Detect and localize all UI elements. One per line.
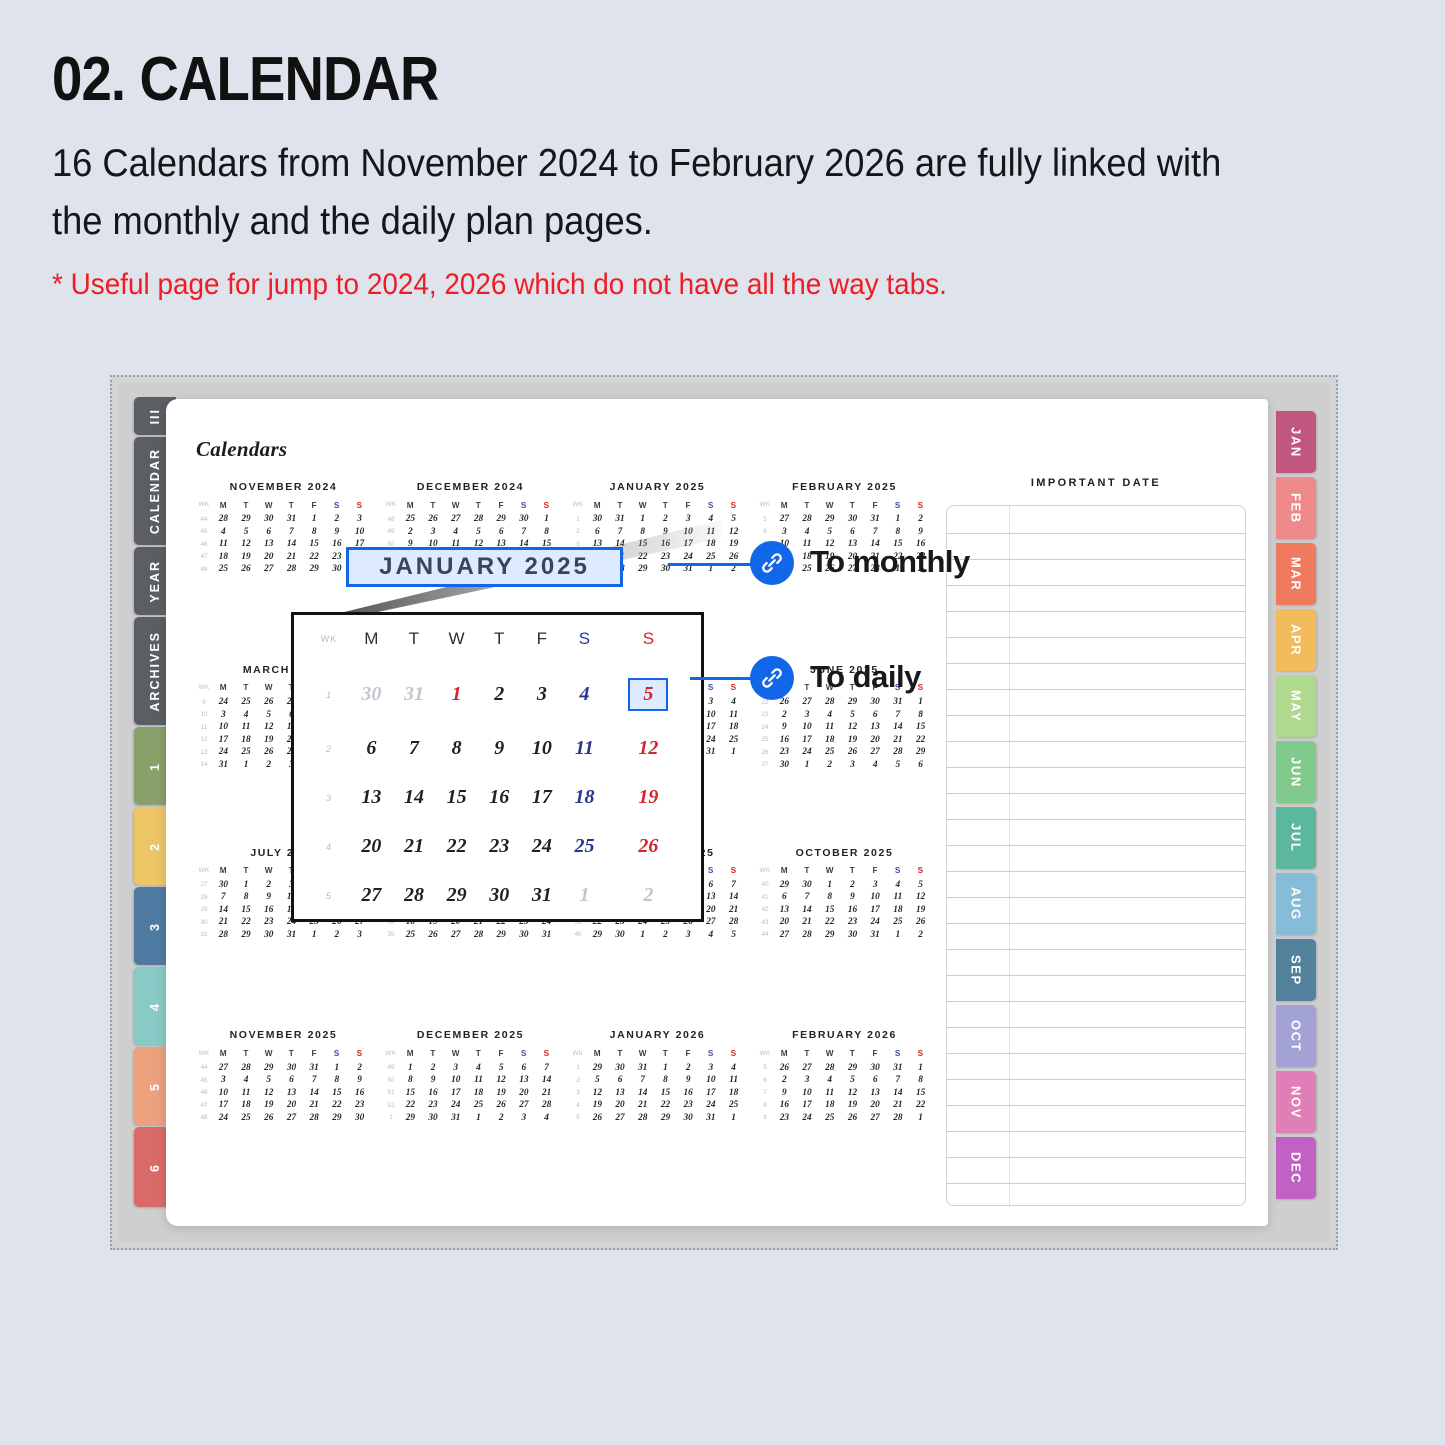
day-cell[interactable]: 18 <box>722 722 745 734</box>
day-cell[interactable]: 17 <box>796 734 819 746</box>
day-cell[interactable]: 28 <box>796 514 819 526</box>
day-cell[interactable]: 29 <box>235 929 258 941</box>
day-cell[interactable]: 6 <box>280 1075 303 1087</box>
day-cell[interactable]: 28 <box>467 514 490 526</box>
day-cell[interactable]: 2 <box>909 929 932 941</box>
day-cell[interactable]: 1 <box>722 746 745 758</box>
day-cell[interactable]: 1 <box>326 1062 349 1074</box>
day-cell[interactable]: 6 <box>350 724 393 773</box>
day-cell[interactable]: 1 <box>887 514 910 526</box>
day-cell[interactable]: 15 <box>303 539 326 551</box>
day-cell[interactable]: 21 <box>631 1100 654 1112</box>
day-cell[interactable]: 13 <box>513 1075 536 1087</box>
day-cell[interactable]: 2 <box>348 1062 371 1074</box>
day-cell[interactable]: 26 <box>841 1112 864 1124</box>
day-cell[interactable]: 31 <box>535 929 558 941</box>
day-cell[interactable]: 17 <box>700 1087 723 1099</box>
day-cell[interactable]: 13 <box>864 722 887 734</box>
day-cell[interactable]: 16 <box>478 773 521 822</box>
day-cell[interactable]: 12 <box>841 1087 864 1099</box>
day-cell[interactable]: 26 <box>422 929 445 941</box>
day-cell[interactable]: 23 <box>257 917 280 929</box>
day-cell[interactable]: 15 <box>435 773 478 822</box>
day-cell[interactable]: 2 <box>909 514 932 526</box>
day-cell[interactable]: 27 <box>864 1112 887 1124</box>
day-cell[interactable]: 20 <box>773 917 796 929</box>
day-cell[interactable]: 22 <box>631 551 654 563</box>
day-cell[interactable]: 11 <box>235 1087 258 1099</box>
day-cell[interactable]: 17 <box>212 1100 235 1112</box>
day-cell[interactable]: 8 <box>303 526 326 538</box>
day-cell[interactable]: 18 <box>818 734 841 746</box>
day-cell[interactable]: 21 <box>796 917 819 929</box>
day-cell[interactable]: 31 <box>444 1112 467 1124</box>
day-cell[interactable]: 7 <box>280 526 303 538</box>
day-cell[interactable]: 16 <box>654 539 677 551</box>
day-cell[interactable]: 25 <box>887 917 910 929</box>
day-cell[interactable]: 28 <box>235 1062 258 1074</box>
day-cell[interactable]: 10 <box>348 526 371 538</box>
day-cell[interactable]: 30 <box>864 1062 887 1074</box>
day-cell[interactable]: 29 <box>435 871 478 920</box>
day-cell[interactable]: 31 <box>631 1062 654 1074</box>
selected-day-link[interactable]: 5 <box>628 678 668 711</box>
day-cell[interactable]: 19 <box>841 1100 864 1112</box>
day-cell[interactable]: 3 <box>212 1075 235 1087</box>
day-cell[interactable]: 26 <box>773 1062 796 1074</box>
day-cell[interactable]: 17 <box>796 1100 819 1112</box>
day-cell[interactable]: 13 <box>350 773 393 822</box>
day-cell[interactable]: 17 <box>864 904 887 916</box>
day-cell[interactable]: 15 <box>654 1087 677 1099</box>
day-cell[interactable]: 12 <box>606 724 691 773</box>
mini-calendar[interactable]: JANUARY 2026WKMTWTFSS1293031123425678910… <box>564 1025 751 1208</box>
day-cell[interactable]: 30 <box>280 1062 303 1074</box>
day-cell[interactable]: 27 <box>444 929 467 941</box>
day-cell[interactable]: 11 <box>467 1075 490 1087</box>
day-cell[interactable]: 29 <box>841 697 864 709</box>
day-cell[interactable]: 31 <box>864 929 887 941</box>
day-cell[interactable]: 2 <box>677 1062 700 1074</box>
day-cell[interactable]: 18 <box>887 904 910 916</box>
day-cell[interactable]: 28 <box>887 746 910 758</box>
day-cell[interactable]: 1 <box>303 514 326 526</box>
day-cell[interactable]: 29 <box>841 1062 864 1074</box>
day-cell[interactable]: 3 <box>796 709 819 721</box>
day-cell[interactable]: 30 <box>478 871 521 920</box>
day-cell[interactable]: 27 <box>212 1062 235 1074</box>
mini-calendar[interactable]: NOVEMBER 2025WKMTWTFSS442728293031124534… <box>190 1025 377 1208</box>
day-cell[interactable]: 31 <box>280 929 303 941</box>
mini-calendar-title[interactable]: JANUARY 2025 <box>570 481 745 493</box>
day-cell[interactable]: 16 <box>257 904 280 916</box>
month-tab-jan[interactable]: JAN <box>1276 411 1316 473</box>
day-cell[interactable]: 9 <box>841 892 864 904</box>
day-cell[interactable]: 21 <box>393 822 436 871</box>
day-cell[interactable]: 22 <box>654 1100 677 1112</box>
day-cell[interactable]: 2 <box>257 759 280 771</box>
day-cell[interactable]: 26 <box>586 1112 609 1124</box>
day-cell[interactable]: 1 <box>631 514 654 526</box>
day-cell[interactable]: 28 <box>796 929 819 941</box>
day-cell[interactable]: 5 <box>841 709 864 721</box>
day-cell[interactable]: 11 <box>887 892 910 904</box>
day-cell[interactable]: 9 <box>422 1075 445 1087</box>
day-cell[interactable]: 2 <box>841 879 864 891</box>
important-date-box[interactable] <box>946 505 1246 1206</box>
day-cell[interactable]: 9 <box>773 1087 796 1099</box>
day-cell[interactable]: 16 <box>677 1087 700 1099</box>
day-cell[interactable]: 21 <box>722 904 745 916</box>
day-cell[interactable]: 13 <box>257 539 280 551</box>
day-cell[interactable]: 24 <box>796 746 819 758</box>
day-cell[interactable]: 22 <box>909 1100 932 1112</box>
day-cell[interactable]: 15 <box>326 1087 349 1099</box>
day-cell[interactable]: 7 <box>393 724 436 773</box>
day-cell[interactable]: 29 <box>654 1112 677 1124</box>
day-cell[interactable]: 23 <box>841 917 864 929</box>
day-cell[interactable]: 28 <box>467 929 490 941</box>
day-cell[interactable]: 15 <box>818 904 841 916</box>
day-cell[interactable]: 28 <box>212 514 235 526</box>
month-tab-nov[interactable]: NOV <box>1276 1071 1316 1133</box>
day-cell[interactable]: 28 <box>280 564 303 576</box>
day-cell[interactable]: 20 <box>513 1087 536 1099</box>
day-cell[interactable]: 29 <box>326 1112 349 1124</box>
day-cell[interactable]: 8 <box>326 1075 349 1087</box>
day-cell[interactable]: 1 <box>467 1112 490 1124</box>
day-cell[interactable]: 6 <box>490 526 513 538</box>
day-cell[interactable]: 29 <box>490 929 513 941</box>
day-cell[interactable]: 6 <box>909 759 932 771</box>
day-cell[interactable]: 2 <box>654 514 677 526</box>
day-cell[interactable]: 2 <box>326 514 349 526</box>
day-cell[interactable]: 9 <box>773 722 796 734</box>
day-cell[interactable]: 5 <box>606 665 691 724</box>
day-cell[interactable]: 30 <box>864 697 887 709</box>
day-cell[interactable]: 19 <box>606 773 691 822</box>
day-cell[interactable]: 17 <box>521 773 564 822</box>
day-cell[interactable]: 30 <box>212 879 235 891</box>
day-cell[interactable]: 1 <box>563 871 606 920</box>
day-cell[interactable]: 9 <box>326 526 349 538</box>
day-cell[interactable]: 31 <box>303 1062 326 1074</box>
day-cell[interactable]: 27 <box>609 1112 632 1124</box>
day-cell[interactable]: 28 <box>212 929 235 941</box>
day-cell[interactable]: 7 <box>887 709 910 721</box>
day-cell[interactable]: 8 <box>535 526 558 538</box>
day-cell[interactable]: 28 <box>887 1112 910 1124</box>
day-cell[interactable]: 14 <box>303 1087 326 1099</box>
day-cell[interactable]: 11 <box>818 722 841 734</box>
day-cell[interactable]: 29 <box>631 564 654 576</box>
day-cell[interactable]: 4 <box>444 526 467 538</box>
day-cell[interactable]: 26 <box>909 917 932 929</box>
month-tab-feb[interactable]: FEB <box>1276 477 1316 539</box>
day-cell[interactable]: 22 <box>435 822 478 871</box>
day-cell[interactable]: 4 <box>235 1075 258 1087</box>
day-cell[interactable]: 1 <box>399 1062 422 1074</box>
day-cell[interactable]: 29 <box>399 1112 422 1124</box>
day-cell[interactable]: 28 <box>722 917 745 929</box>
day-cell[interactable]: 4 <box>700 929 723 941</box>
day-cell[interactable]: 5 <box>818 526 841 538</box>
day-cell[interactable]: 28 <box>818 697 841 709</box>
day-cell[interactable]: 6 <box>609 1075 632 1087</box>
day-cell[interactable]: 21 <box>280 551 303 563</box>
day-cell[interactable]: 7 <box>631 1075 654 1087</box>
day-cell[interactable]: 1 <box>887 929 910 941</box>
day-cell[interactable]: 30 <box>796 879 819 891</box>
day-cell[interactable]: 5 <box>722 929 745 941</box>
day-cell[interactable]: 27 <box>257 564 280 576</box>
day-cell[interactable]: 19 <box>235 551 258 563</box>
day-cell[interactable]: 1 <box>909 697 932 709</box>
day-cell[interactable]: 7 <box>796 892 819 904</box>
day-cell[interactable]: 2 <box>818 759 841 771</box>
day-cell[interactable]: 22 <box>399 1100 422 1112</box>
day-cell[interactable]: 2 <box>606 871 691 920</box>
day-cell[interactable]: 7 <box>887 1075 910 1087</box>
mini-calendar-title[interactable]: FEBRUARY 2026 <box>757 1029 932 1041</box>
day-cell[interactable]: 9 <box>909 526 932 538</box>
day-cell[interactable]: 27 <box>444 514 467 526</box>
day-cell[interactable]: 28 <box>631 1112 654 1124</box>
day-cell[interactable]: 10 <box>444 1075 467 1087</box>
day-cell[interactable]: 13 <box>609 1087 632 1099</box>
month-tab-may[interactable]: MAY <box>1276 675 1316 737</box>
mini-calendar[interactable]: FEBRUARY 2026WKMTWTFSS526272829303116234… <box>751 1025 938 1208</box>
day-cell[interactable]: 9 <box>478 724 521 773</box>
day-cell[interactable]: 2 <box>490 1112 513 1124</box>
day-cell[interactable]: 27 <box>773 929 796 941</box>
day-cell[interactable]: 27 <box>513 1100 536 1112</box>
day-cell[interactable]: 14 <box>280 539 303 551</box>
day-cell[interactable]: 14 <box>212 904 235 916</box>
day-cell[interactable]: 25 <box>722 1100 745 1112</box>
day-cell[interactable]: 31 <box>393 665 436 724</box>
day-cell[interactable]: 31 <box>521 871 564 920</box>
month-tab-sep[interactable]: SEP <box>1276 939 1316 1001</box>
day-cell[interactable]: 29 <box>818 929 841 941</box>
day-cell[interactable]: 24 <box>521 822 564 871</box>
day-cell[interactable]: 6 <box>586 526 609 538</box>
day-cell[interactable]: 11 <box>818 1087 841 1099</box>
day-cell[interactable]: 1 <box>818 879 841 891</box>
day-cell[interactable]: 1 <box>796 759 819 771</box>
day-cell[interactable]: 4 <box>818 1075 841 1087</box>
day-cell[interactable]: 5 <box>887 759 910 771</box>
day-cell[interactable]: 1 <box>631 929 654 941</box>
day-cell[interactable]: 8 <box>909 1075 932 1087</box>
day-cell[interactable]: 8 <box>399 1075 422 1087</box>
day-cell[interactable]: 19 <box>490 1087 513 1099</box>
day-cell[interactable]: 11 <box>235 722 258 734</box>
day-cell[interactable]: 4 <box>563 665 606 724</box>
day-cell[interactable]: 1 <box>535 514 558 526</box>
day-cell[interactable]: 2 <box>773 1075 796 1087</box>
day-cell[interactable]: 30 <box>609 929 632 941</box>
day-cell[interactable]: 22 <box>326 1100 349 1112</box>
day-cell[interactable]: 7 <box>212 892 235 904</box>
day-cell[interactable]: 5 <box>257 1075 280 1087</box>
day-cell[interactable]: 27 <box>864 746 887 758</box>
day-cell[interactable]: 20 <box>609 1100 632 1112</box>
day-cell[interactable]: 25 <box>212 564 235 576</box>
day-cell[interactable]: 18 <box>722 1087 745 1099</box>
day-cell[interactable]: 28 <box>818 1062 841 1074</box>
day-cell[interactable]: 7 <box>535 1062 558 1074</box>
mini-calendar-title[interactable]: DECEMBER 2024 <box>383 481 558 493</box>
day-cell[interactable]: 10 <box>212 1087 235 1099</box>
day-cell[interactable]: 13 <box>864 1087 887 1099</box>
day-cell[interactable]: 21 <box>887 734 910 746</box>
day-cell[interactable]: 4 <box>796 526 819 538</box>
day-cell[interactable]: 29 <box>257 1062 280 1074</box>
day-cell[interactable]: 22 <box>818 917 841 929</box>
month-tab-apr[interactable]: APR <box>1276 609 1316 671</box>
day-cell[interactable]: 31 <box>609 514 632 526</box>
day-cell[interactable]: 9 <box>654 526 677 538</box>
day-cell[interactable]: 16 <box>422 1087 445 1099</box>
day-cell[interactable]: 22 <box>303 551 326 563</box>
day-cell[interactable]: 20 <box>257 551 280 563</box>
day-cell[interactable]: 27 <box>796 697 819 709</box>
day-cell[interactable]: 31 <box>887 697 910 709</box>
day-cell[interactable]: 29 <box>586 929 609 941</box>
day-cell[interactable]: 21 <box>212 917 235 929</box>
day-cell[interactable]: 8 <box>818 892 841 904</box>
day-cell[interactable]: 23 <box>654 551 677 563</box>
day-cell[interactable]: 8 <box>435 724 478 773</box>
day-cell[interactable]: 25 <box>563 822 606 871</box>
day-cell[interactable]: 23 <box>478 822 521 871</box>
day-cell[interactable]: 1 <box>235 879 258 891</box>
day-cell[interactable]: 14 <box>887 1087 910 1099</box>
day-cell[interactable]: 18 <box>563 773 606 822</box>
day-cell[interactable]: 16 <box>348 1087 371 1099</box>
day-cell[interactable]: 1 <box>909 1112 932 1124</box>
day-cell[interactable]: 10 <box>677 526 700 538</box>
day-cell[interactable]: 30 <box>348 1112 371 1124</box>
day-cell[interactable]: 5 <box>909 879 932 891</box>
day-cell[interactable]: 31 <box>700 1112 723 1124</box>
day-cell[interactable]: 16 <box>773 1100 796 1112</box>
day-cell[interactable]: 11 <box>700 526 723 538</box>
day-cell[interactable]: 5 <box>722 514 745 526</box>
day-cell[interactable]: 14 <box>631 1087 654 1099</box>
day-cell[interactable]: 11 <box>212 539 235 551</box>
day-cell[interactable]: 18 <box>467 1087 490 1099</box>
day-cell[interactable]: 14 <box>887 722 910 734</box>
day-cell[interactable]: 31 <box>864 514 887 526</box>
day-cell[interactable]: 24 <box>212 697 235 709</box>
day-cell[interactable]: 29 <box>490 514 513 526</box>
day-cell[interactable]: 9 <box>257 892 280 904</box>
day-cell[interactable]: 10 <box>212 722 235 734</box>
day-cell[interactable]: 24 <box>700 1100 723 1112</box>
day-cell[interactable]: 1 <box>435 665 478 724</box>
day-cell[interactable]: 3 <box>677 514 700 526</box>
day-cell[interactable]: 8 <box>654 1075 677 1087</box>
day-cell[interactable]: 18 <box>700 539 723 551</box>
day-cell[interactable]: 19 <box>909 904 932 916</box>
day-cell[interactable]: 30 <box>422 1112 445 1124</box>
day-cell[interactable]: 25 <box>399 929 422 941</box>
day-cell[interactable]: 30 <box>609 1062 632 1074</box>
day-cell[interactable]: 24 <box>864 917 887 929</box>
day-cell[interactable]: 17 <box>444 1087 467 1099</box>
day-cell[interactable]: 4 <box>467 1062 490 1074</box>
day-cell[interactable]: 7 <box>722 879 745 891</box>
day-cell[interactable]: 28 <box>303 1112 326 1124</box>
day-cell[interactable]: 19 <box>586 1100 609 1112</box>
day-cell[interactable]: 15 <box>631 539 654 551</box>
day-cell[interactable]: 12 <box>257 1087 280 1099</box>
day-cell[interactable]: 25 <box>700 551 723 563</box>
day-cell[interactable]: 19 <box>841 734 864 746</box>
day-cell[interactable]: 24 <box>796 1112 819 1124</box>
mini-calendar-title[interactable]: DECEMBER 2025 <box>383 1029 558 1041</box>
day-cell[interactable]: 16 <box>841 904 864 916</box>
day-cell[interactable]: 5 <box>235 526 258 538</box>
day-cell[interactable]: 2 <box>654 929 677 941</box>
day-cell[interactable]: 18 <box>235 734 258 746</box>
mini-calendar-title[interactable]: NOVEMBER 2025 <box>196 1029 371 1041</box>
day-cell[interactable]: 4 <box>235 709 258 721</box>
day-cell[interactable]: 30 <box>773 759 796 771</box>
day-cell[interactable]: 29 <box>235 514 258 526</box>
day-cell[interactable]: 4 <box>535 1112 558 1124</box>
day-cell[interactable]: 2 <box>773 709 796 721</box>
day-cell[interactable]: 2 <box>478 665 521 724</box>
day-cell[interactable]: 15 <box>235 904 258 916</box>
day-cell[interactable]: 24 <box>212 746 235 758</box>
day-cell[interactable]: 26 <box>490 1100 513 1112</box>
day-cell[interactable]: 8 <box>631 526 654 538</box>
day-cell[interactable]: 24 <box>444 1100 467 1112</box>
day-cell[interactable]: 23 <box>773 1112 796 1124</box>
day-cell[interactable]: 31 <box>212 759 235 771</box>
day-cell[interactable]: 29 <box>818 514 841 526</box>
day-cell[interactable]: 6 <box>773 892 796 904</box>
day-cell[interactable]: 30 <box>841 514 864 526</box>
day-cell[interactable]: 15 <box>909 722 932 734</box>
day-cell[interactable]: 13 <box>280 1087 303 1099</box>
day-cell[interactable]: 5 <box>586 1075 609 1087</box>
day-cell[interactable]: 23 <box>326 551 349 563</box>
day-cell[interactable]: 25 <box>235 697 258 709</box>
day-cell[interactable]: 20 <box>864 734 887 746</box>
day-cell[interactable]: 8 <box>887 526 910 538</box>
day-cell[interactable]: 25 <box>818 1112 841 1124</box>
day-cell[interactable]: 26 <box>257 1112 280 1124</box>
day-cell[interactable]: 3 <box>700 1062 723 1074</box>
day-cell[interactable]: 16 <box>326 539 349 551</box>
day-cell[interactable]: 3 <box>677 929 700 941</box>
day-cell[interactable]: 12 <box>722 526 745 538</box>
day-cell[interactable]: 31 <box>280 514 303 526</box>
day-cell[interactable]: 6 <box>864 1075 887 1087</box>
day-cell[interactable]: 28 <box>393 871 436 920</box>
day-cell[interactable]: 20 <box>864 1100 887 1112</box>
month-tab-jul[interactable]: JUL <box>1276 807 1316 869</box>
day-cell[interactable]: 20 <box>350 822 393 871</box>
day-cell[interactable]: 29 <box>586 1062 609 1074</box>
day-cell[interactable]: 8 <box>909 709 932 721</box>
day-cell[interactable]: 15 <box>909 1087 932 1099</box>
day-cell[interactable]: 3 <box>212 709 235 721</box>
